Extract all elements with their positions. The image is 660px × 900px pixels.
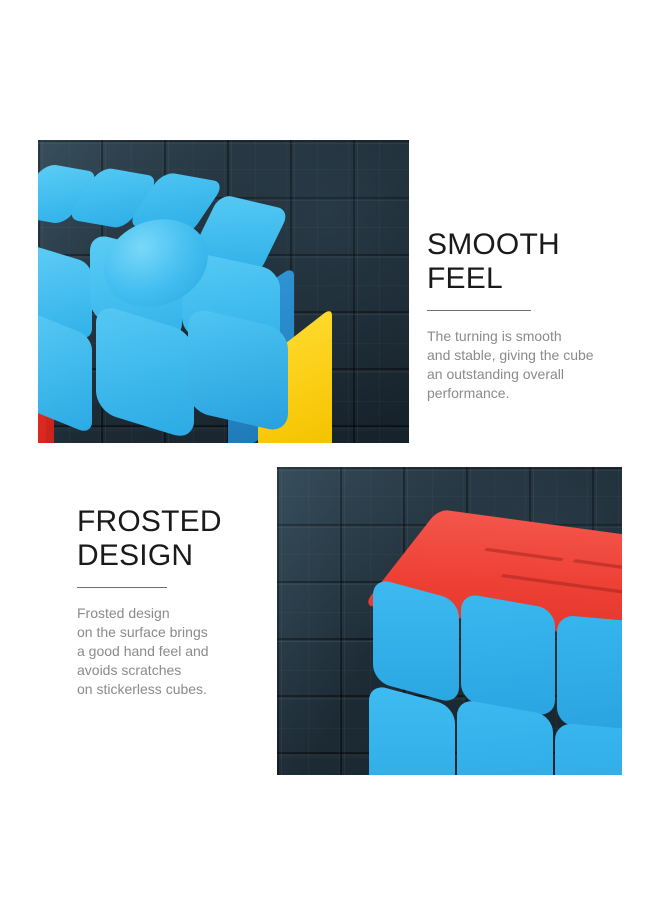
feature-heading-smooth-feel: SMOOTH FEEL [427,228,642,296]
product-feature-page: SMOOTH FEEL The turning is smooth and st… [0,0,660,900]
heading-divider [427,310,531,311]
product-image-frosted-design [277,467,622,775]
feature-heading-frosted-design: FROSTED DESIGN [77,505,277,573]
speed-cube-blue-face-red-top [373,527,622,775]
cube-facelet-front-3 [557,615,622,734]
feature-text-frosted-design: FROSTED DESIGN Frosted design on the sur… [77,505,277,699]
cube-facelet-front-6 [555,723,622,775]
feature-text-smooth-feel: SMOOTH FEEL The turning is smooth and st… [427,228,642,403]
feature-body-frosted-design: Frosted design on the surface brings a g… [77,604,277,699]
cube-facelet-front-2 [461,593,555,718]
product-image-smooth-feel [38,140,409,443]
feature-body-smooth-feel: The turning is smooth and stable, giving… [427,327,642,403]
heading-divider [77,587,167,588]
speed-cube-corner-closeup [38,168,352,443]
